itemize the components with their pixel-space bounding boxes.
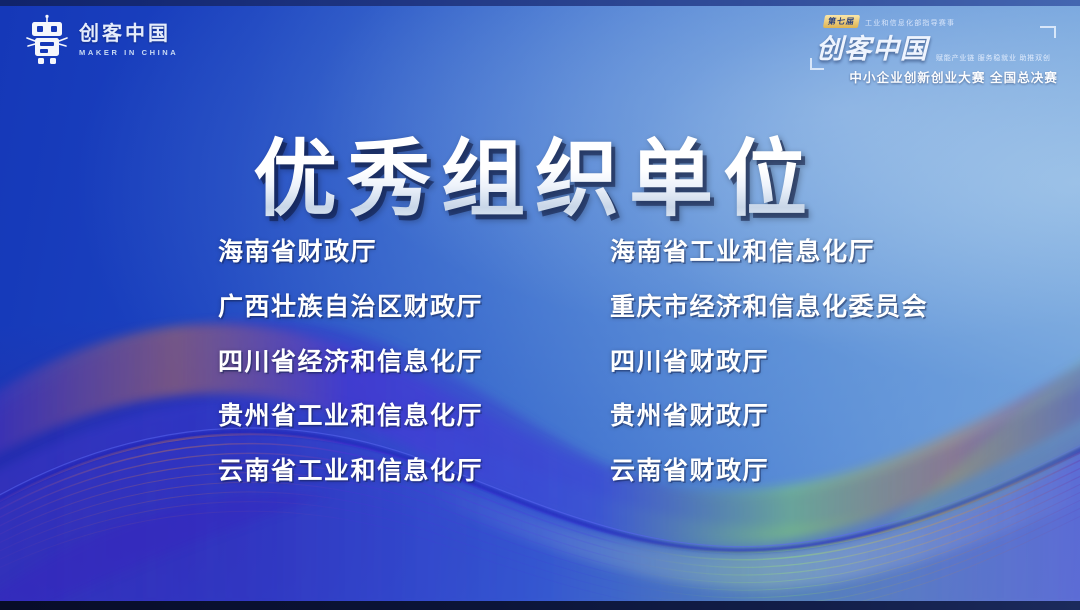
logo-right-slogan: 赋能产业链 服务稳就业 助推双创 [936, 53, 1051, 66]
list-item: 云南省财政厅 [610, 455, 918, 489]
list-item: 四川省财政厅 [610, 346, 918, 380]
bottom-edge-strip [0, 601, 1080, 610]
logo-left-name-en: MAKER IN CHINA [79, 49, 178, 57]
top-edge-strip [0, 0, 1080, 6]
maker-in-china-logo-left: 创客中国 MAKER IN CHINA [24, 14, 178, 66]
event-logo-right: 第七届 工业和信息化部指导赛事 创客中国 赋能产业链 服务稳就业 助推双创 中小… [810, 12, 1058, 90]
list-item: 四川省经济和信息化厅 [218, 346, 610, 380]
list-item: 重庆市经济和信息化委员会 [610, 291, 918, 325]
maker-robot-icon [24, 14, 70, 66]
logo-right-subtitle: 中小企业创新创业大赛 全国总决赛 [849, 67, 1058, 86]
logo-left-name-cn: 创客中国 [79, 24, 178, 44]
presentation-slide: 创客中国 MAKER IN CHINA 第七届 工业和信息化部指导赛事 创客中国… [0, 0, 1080, 610]
list-item: 海南省工业和信息化厅 [610, 236, 918, 270]
list-item: 云南省工业和信息化厅 [218, 455, 610, 489]
list-item: 海南省财政厅 [218, 236, 610, 270]
organization-list: 海南省财政厅 海南省工业和信息化厅 广西壮族自治区财政厅 重庆市经济和信息化委员… [218, 236, 918, 489]
logo-right-brand: 创客中国 [816, 27, 928, 66]
list-item: 贵州省工业和信息化厅 [218, 400, 610, 434]
list-item: 贵州省财政厅 [610, 400, 918, 434]
list-item: 广西壮族自治区财政厅 [218, 291, 610, 325]
page-title: 优秀组织单位 [0, 134, 1080, 228]
